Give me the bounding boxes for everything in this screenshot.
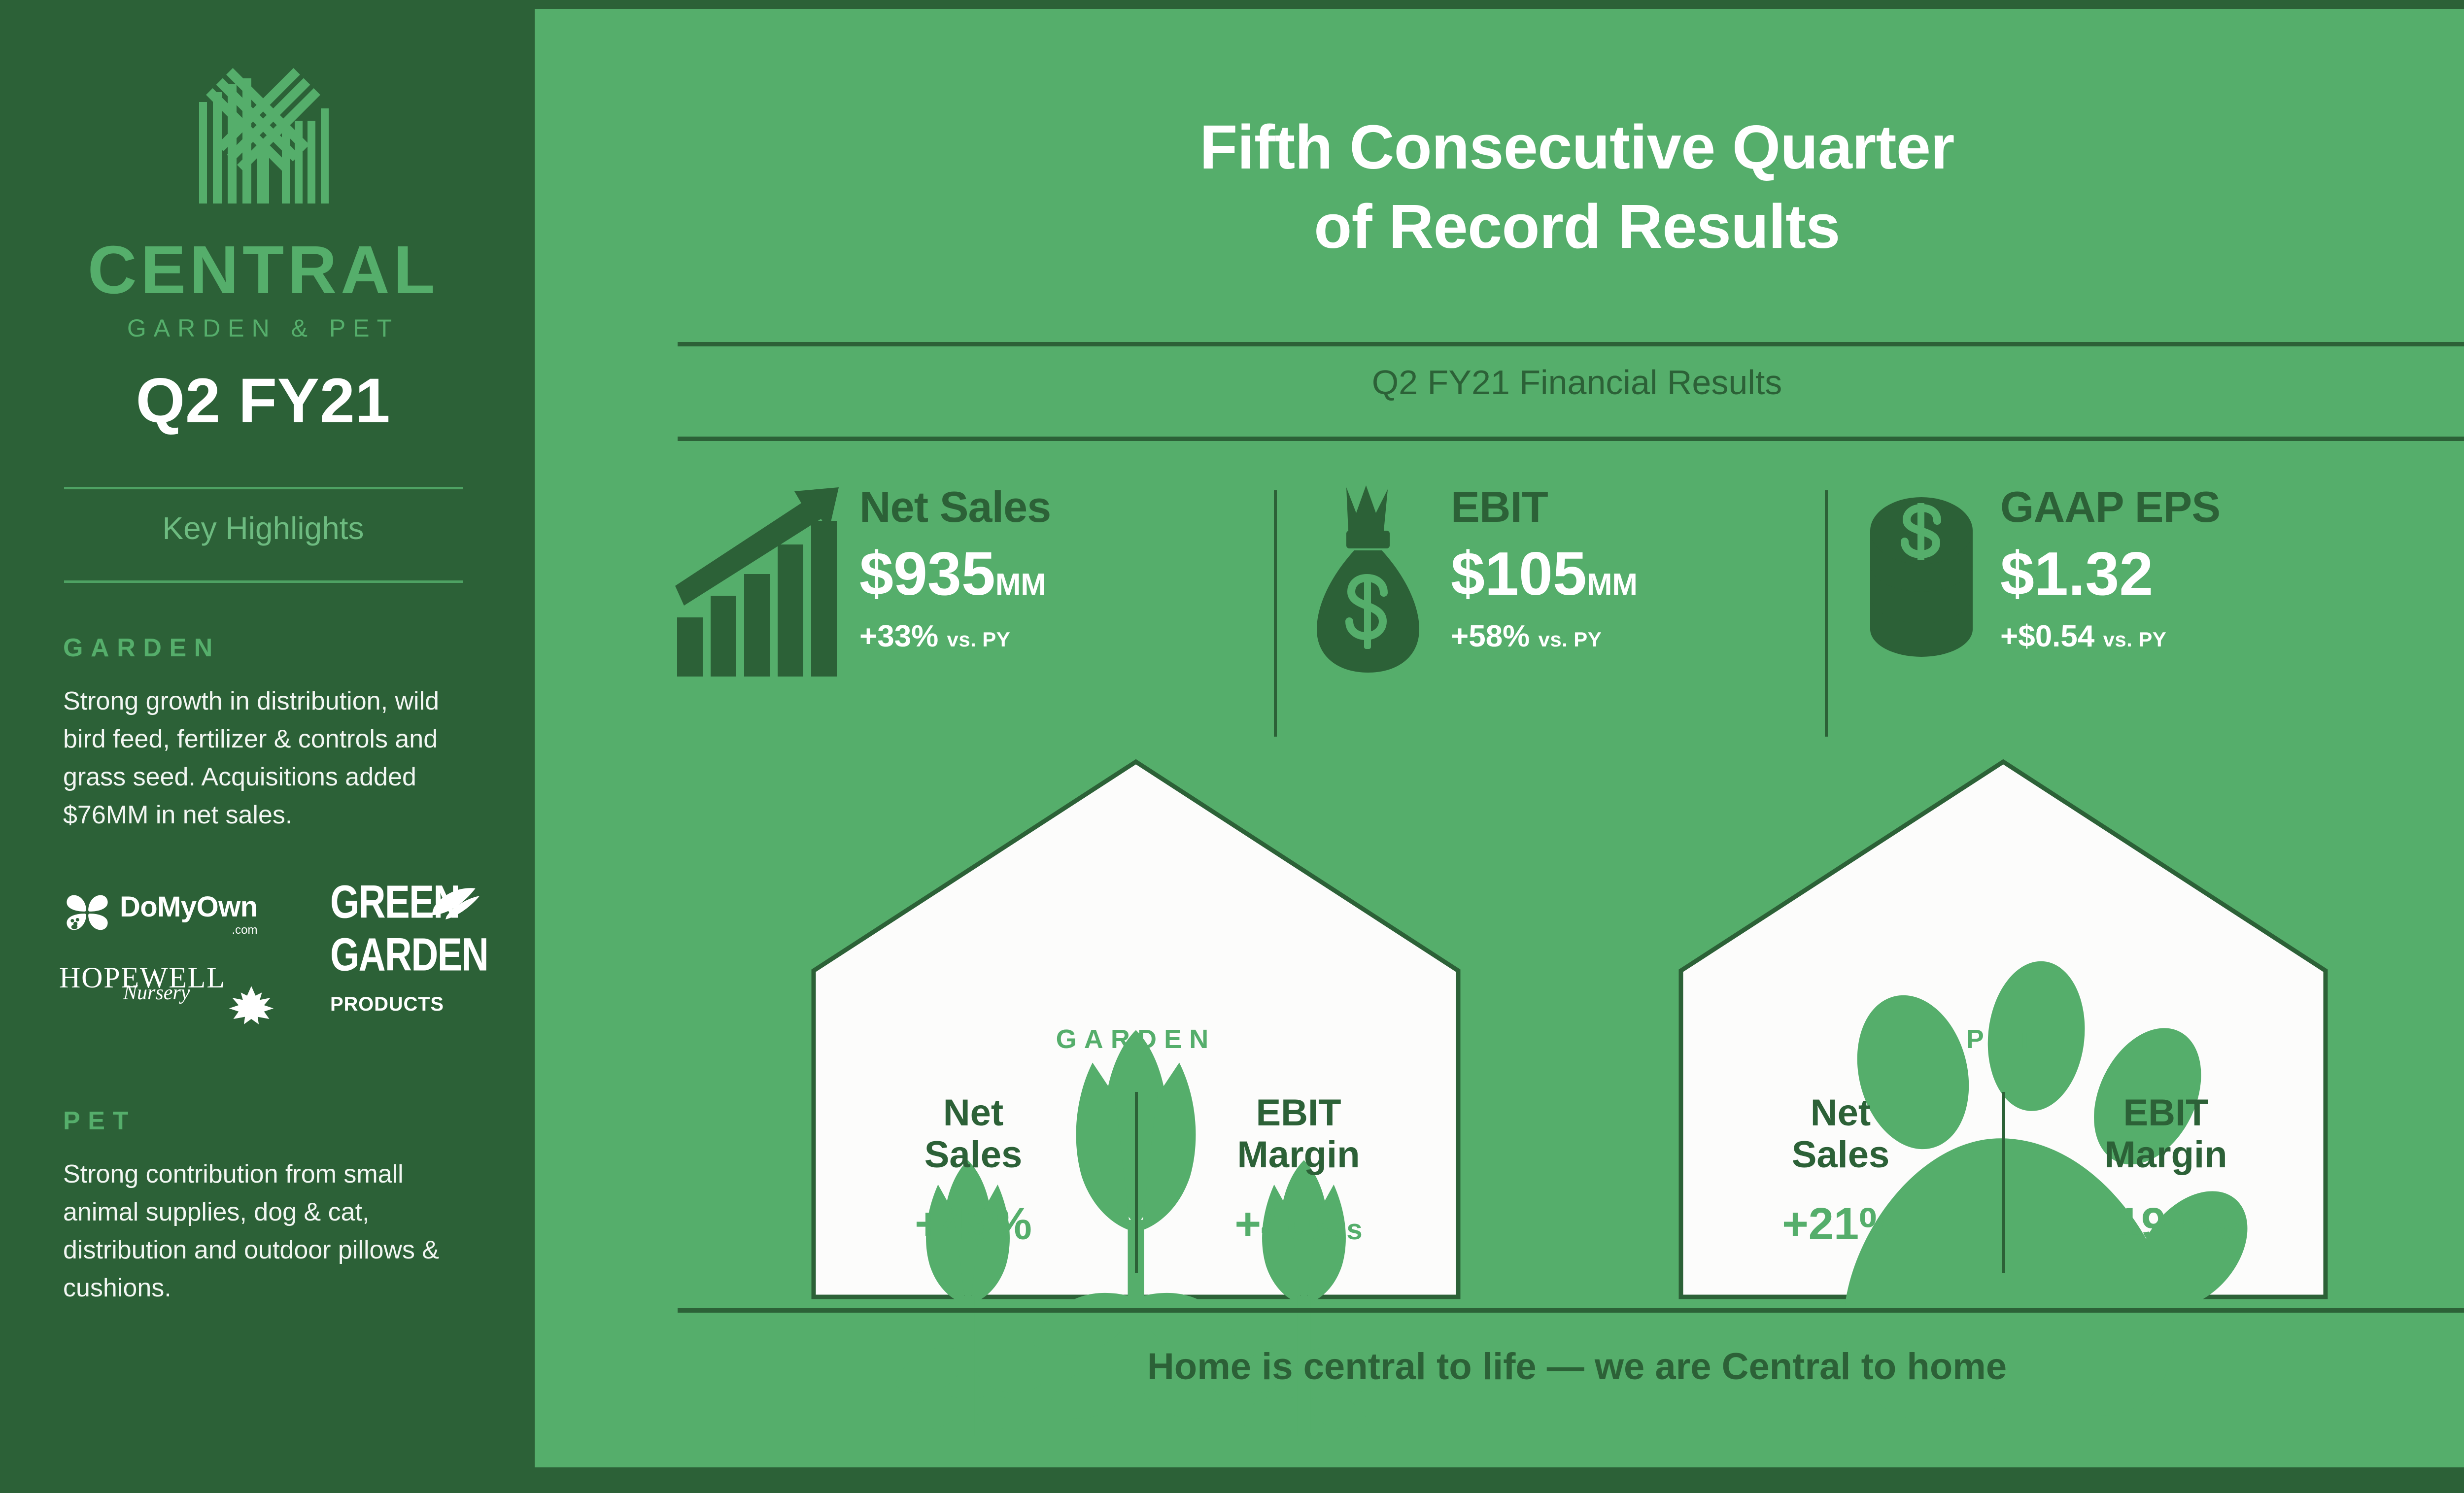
- logo-wordmark: CENTRAL: [0, 236, 526, 304]
- pet-metric-net-sales: Net Sales +21%: [1678, 1088, 2003, 1285]
- garden-ebit-title-l2: Margin: [1237, 1134, 1360, 1176]
- kpi-gaap-eps-delta-note: vs. PY: [2103, 628, 2167, 651]
- logo-tagline: GARDEN & PET: [0, 316, 526, 340]
- kpi-ebit-value: $105MM: [1451, 543, 1638, 605]
- maple-leaf-icon: [224, 984, 278, 1026]
- pet-ebit-number: +190: [2089, 1199, 2191, 1249]
- bar-chart-growth-icon: [675, 479, 843, 679]
- kpi-ebit-amount: $105: [1451, 540, 1587, 608]
- kpi-ebit: EBIT $105MM +58% vs. PY: [1311, 479, 1804, 736]
- garden-metric-ebit-margin-value: +40bps: [1136, 1201, 1461, 1247]
- kpi-net-sales-delta: +33% vs. PY: [859, 621, 1051, 652]
- page-title-line2: of Record Results: [1314, 192, 1840, 261]
- brand-domyown: DoMyOwn .com: [62, 887, 257, 941]
- page-title-line1: Fifth Consecutive Quarter: [1199, 112, 1954, 182]
- kpi-gaap-eps-delta: +$0.54 vs. PY: [2000, 621, 2220, 652]
- pet-net-sales-title-l1: Net: [1811, 1092, 1871, 1134]
- segment-card-garden-metrics: Net Sales +49% EBIT Margin +40bps: [811, 1088, 1461, 1285]
- quarter-title: Q2 FY21: [0, 365, 526, 437]
- main-panel: Fifth Consecutive Quarter of Record Resu…: [535, 9, 2464, 1467]
- kpi-net-sales-amount: $935: [859, 540, 995, 608]
- sidebar: CENTRAL GARDEN & PET Q2 FY21 Key Highlig…: [0, 0, 526, 1478]
- garden-metric-net-sales-value: +49%: [811, 1201, 1136, 1247]
- garden-metric-net-sales: Net Sales +49%: [811, 1088, 1136, 1285]
- pet-metric-net-sales-value: +21%: [1678, 1201, 2003, 1247]
- kpi-gaap-eps-delta-value: +$0.54: [2000, 619, 2094, 653]
- garden-ebit-title-l1: EBIT: [1256, 1092, 1341, 1134]
- garden-metric-ebit-margin-title: EBIT Margin: [1136, 1092, 1461, 1176]
- pet-ebit-title-l2: Margin: [2104, 1134, 2227, 1176]
- clover-leaves-icon: [62, 887, 113, 938]
- kpi-net-sales-body: Net Sales $935MM +33% vs. PY: [859, 479, 1051, 652]
- kpi-separator-2: [1825, 490, 1828, 737]
- brand-greengarden-sub: PRODUCTS: [330, 993, 493, 1016]
- kpi-ebit-label: EBIT: [1451, 485, 1638, 529]
- pet-net-sales-number: +21%: [1782, 1199, 1899, 1249]
- kpi-row: Net Sales $935MM +33% vs. PY: [535, 479, 2464, 736]
- kpi-separator-1: [1274, 490, 1277, 737]
- money-bag-icon: [1311, 479, 1434, 679]
- brand-greengarden: GREEN GARDEN PRODUCTS: [330, 882, 493, 1016]
- kpi-gaap-eps: GAAP EPS $1.32 +$0.54 vs. PY: [1860, 479, 2452, 736]
- coin-stack-icon: [1860, 479, 1984, 679]
- garden-net-sales-title-l1: Net: [943, 1092, 1003, 1134]
- kpi-gaap-eps-amount: $1.32: [2000, 540, 2153, 608]
- sidebar-segment-body-pet: Strong contribution from small animal su…: [63, 1155, 462, 1307]
- leaf-sprig-icon: [426, 879, 490, 923]
- kpi-ebit-delta-note: vs. PY: [1539, 628, 1602, 651]
- tagline: Home is central to life — we are Central…: [535, 1345, 2464, 1388]
- kpi-net-sales: Net Sales $935MM +33% vs. PY: [675, 479, 1262, 736]
- rule-above-subtitle: [678, 342, 2464, 346]
- garden-ebit-number: +40: [1234, 1199, 1311, 1249]
- kpi-ebit-unit: MM: [1587, 568, 1638, 602]
- company-logo: CENTRAL GARDEN & PET: [0, 47, 526, 340]
- brand-logos: DoMyOwn .com HOPEWELL Nursery GREEN: [59, 882, 468, 1074]
- subtitle: Q2 FY21 Financial Results: [535, 363, 2464, 402]
- pet-metric-ebit-margin-title: EBIT Margin: [2003, 1092, 2328, 1176]
- house-lines-logo-icon: [177, 47, 349, 229]
- brand-greengarden-line2: GARDEN: [330, 935, 493, 976]
- pet-metric-net-sales-title: Net Sales: [1678, 1092, 2003, 1176]
- kpi-gaap-eps-value: $1.32: [2000, 543, 2220, 605]
- garden-metric-net-sales-title: Net Sales: [811, 1092, 1136, 1176]
- garden-ebit-unit: bps: [1311, 1214, 1362, 1246]
- brand-domyown-name: DoMyOwn: [120, 891, 257, 923]
- garden-net-sales-title-l2: Sales: [924, 1134, 1023, 1176]
- rule-below-subtitle: [678, 437, 2464, 441]
- pet-metric-ebit-margin: EBIT Margin +190bps: [2003, 1088, 2328, 1285]
- rule-above-tagline: [678, 1308, 2464, 1313]
- kpi-net-sales-delta-value: +33%: [859, 619, 938, 653]
- garden-metrics-divider: [1135, 1092, 1138, 1273]
- pet-net-sales-title-l2: Sales: [1792, 1134, 1890, 1176]
- pet-metric-ebit-margin-value: +190bps: [2003, 1201, 2328, 1247]
- kpi-ebit-delta: +58% vs. PY: [1451, 621, 1638, 652]
- divider-bottom: [64, 580, 463, 583]
- kpi-net-sales-value: $935MM: [859, 543, 1051, 605]
- segment-card-pet-label: PET: [1678, 1024, 2328, 1054]
- kpi-gaap-eps-label: GAAP EPS: [2000, 485, 2220, 529]
- garden-net-sales-number: +49%: [915, 1199, 1032, 1249]
- garden-metric-ebit-margin: EBIT Margin +40bps: [1136, 1088, 1461, 1285]
- brand-domyown-suffix: .com: [120, 923, 257, 937]
- pet-ebit-title-l1: EBIT: [2123, 1092, 2208, 1134]
- sidebar-segment-heading-pet: PET: [63, 1106, 136, 1136]
- kpi-ebit-delta-value: +58%: [1451, 619, 1530, 653]
- kpi-net-sales-delta-note: vs. PY: [947, 628, 1011, 651]
- sidebar-segment-heading-garden: GARDEN: [63, 633, 220, 663]
- segment-card-pet: PET Net Sales +21% EBIT Margin +190bps: [1678, 759, 2328, 1300]
- segment-card-garden: GARDEN Net Sales +49% EBIT Margin +40bps: [811, 759, 1461, 1300]
- divider-top: [64, 487, 463, 489]
- key-highlights-label: Key Highlights: [0, 510, 526, 546]
- kpi-ebit-body: EBIT $105MM +58% vs. PY: [1451, 479, 1638, 652]
- page-title: Fifth Consecutive Quarter of Record Resu…: [535, 107, 2464, 267]
- segment-card-pet-metrics: Net Sales +21% EBIT Margin +190bps: [1678, 1088, 2328, 1285]
- pet-ebit-unit: bps: [2191, 1214, 2242, 1246]
- kpi-net-sales-label: Net Sales: [859, 485, 1051, 529]
- segment-card-garden-label: GARDEN: [811, 1024, 1461, 1054]
- brand-hopewell-script: Nursery: [123, 981, 190, 1005]
- kpi-gaap-eps-body: GAAP EPS $1.32 +$0.54 vs. PY: [2000, 479, 2220, 652]
- sidebar-segment-body-garden: Strong growth in distribution, wild bird…: [63, 682, 462, 834]
- kpi-net-sales-unit: MM: [995, 568, 1046, 602]
- brand-hopewell: HOPEWELL Nursery: [59, 961, 226, 1024]
- pet-metrics-divider: [2002, 1092, 2005, 1273]
